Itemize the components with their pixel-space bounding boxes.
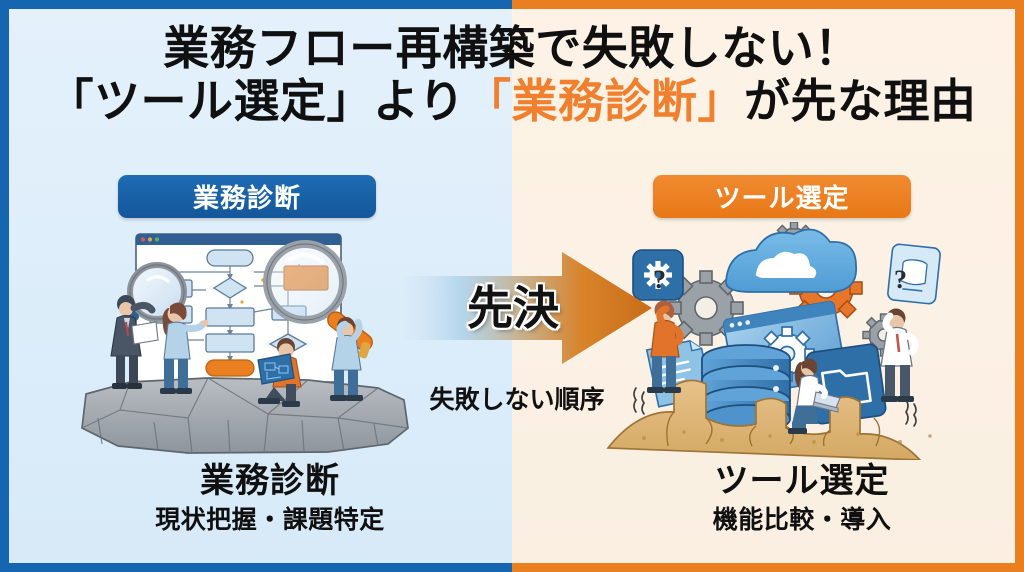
frame-bottom-right: [512, 563, 1024, 572]
caption-right: ツール選定 機能比較・導入: [592, 462, 1012, 535]
rock-platform: [82, 378, 408, 453]
caption-right-sub: 機能比較・導入: [592, 505, 1012, 535]
shake-lines-right: [906, 400, 916, 426]
question-mark-left: ?: [653, 265, 666, 294]
frame-bottom-left: [0, 563, 512, 572]
cloud-icon: [726, 230, 856, 293]
priority-arrow: [402, 252, 654, 364]
question-mark-right: ?: [894, 265, 907, 294]
person-confused-right: [881, 309, 915, 403]
badge-right-tool-sentei[interactable]: ツール選定: [653, 175, 911, 218]
left-illustration: [58, 222, 430, 460]
shake-lines-left: [634, 388, 644, 414]
badge-left-label: 業務診断: [193, 178, 301, 215]
frame-top-left: [0, 0, 512, 9]
frame-top-right: [512, 0, 1024, 9]
caption-left-sub: 現状把握・課題特定: [60, 505, 480, 535]
caption-right-title: ツール選定: [592, 462, 1012, 501]
frame-left-edge: [0, 0, 9, 572]
badge-left-gyomu-shindan[interactable]: 業務診断: [118, 175, 376, 218]
caption-left: 業務診断 現状把握・課題特定: [60, 462, 480, 535]
badge-right-label: ツール選定: [714, 178, 849, 215]
infographic-slide: ? ?: [0, 0, 1024, 572]
right-illustration: ? ?: [600, 222, 972, 460]
caption-left-title: 業務診断: [60, 462, 480, 501]
frame-right-edge: [1015, 0, 1024, 572]
